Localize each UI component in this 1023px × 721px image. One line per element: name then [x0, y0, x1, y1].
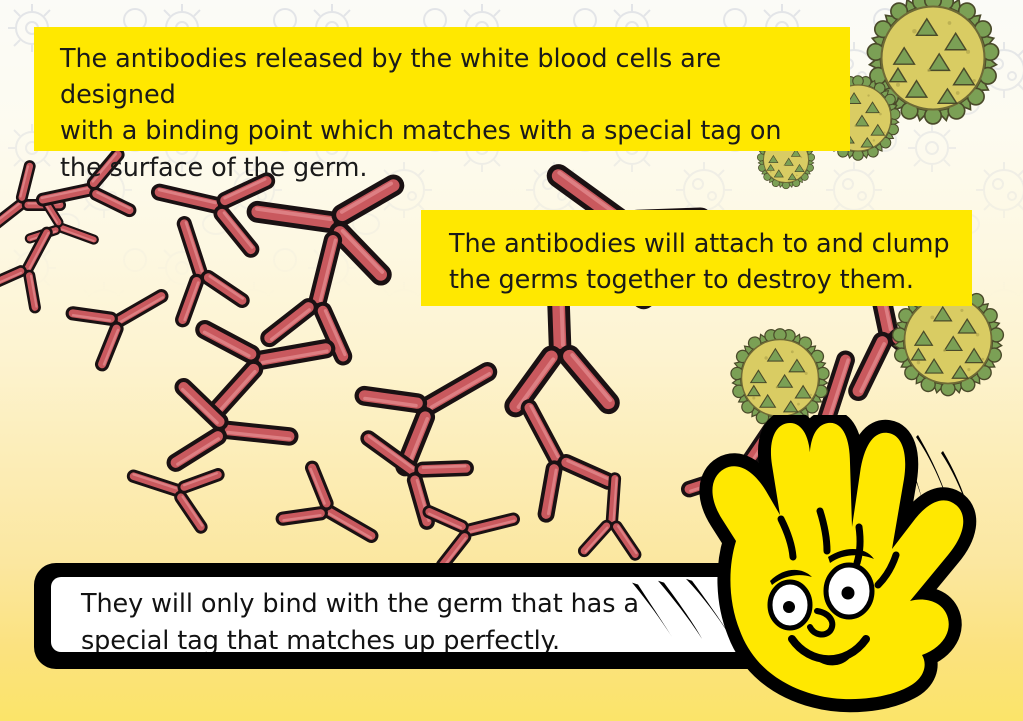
left-eye: [770, 582, 810, 628]
callout-bind-line-1: They will only bind with the germ that h…: [81, 586, 748, 623]
speech-banner-body: They will only bind with the germ that h…: [51, 577, 758, 652]
callout-intro-line-3: the surface of the germ.: [60, 150, 828, 186]
callout-intro: The antibodies released by the white blo…: [34, 27, 850, 151]
callout-clump-line-2: the germs together to destroy them.: [449, 262, 950, 298]
slide-canvas: The antibodies released by the white blo…: [0, 0, 1023, 721]
hand-mascot: [660, 415, 1023, 721]
callout-intro-line-2: with a binding point which matches with …: [60, 113, 828, 149]
callout-clump: The antibodies will attach to and clump …: [421, 210, 972, 306]
right-eye: [826, 565, 872, 617]
callout-clump-line-1: The antibodies will attach to and clump: [449, 226, 950, 262]
callout-bind-text: They will only bind with the germ that h…: [81, 586, 748, 652]
callout-bind-line-2: special tag that matches up perfectly.: [81, 623, 748, 652]
callout-intro-line-1: The antibodies released by the white blo…: [60, 41, 828, 113]
